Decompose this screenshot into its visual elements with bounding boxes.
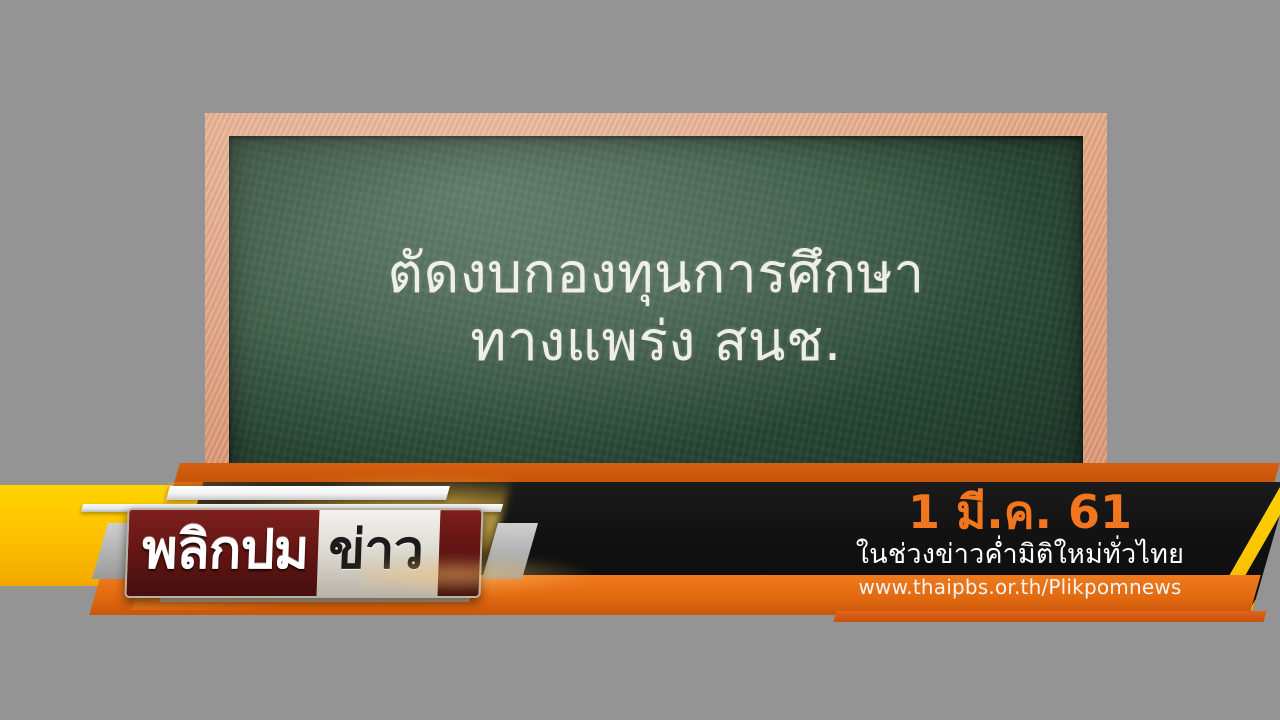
program-url[interactable]: www.thaipbs.or.th/Plikpomnews xyxy=(810,577,1230,597)
orange-underline-bar xyxy=(833,611,1266,622)
broadcast-graphic-stage: ตัดงบกองทุนการศึกษา ทางแพร่ง สนช. พลิกปม… xyxy=(0,0,1280,720)
program-logo-word-primary: พลิกปม xyxy=(126,510,319,596)
white-rule-thick xyxy=(166,486,450,500)
blackboard-surface: ตัดงบกองทุนการศึกษา ทางแพร่ง สนช. xyxy=(229,136,1083,490)
air-slot-subtitle: ในช่วงข่าวค่ำมิติใหม่ทั่วไทย xyxy=(810,541,1230,568)
blackboard-headline-line1: ตัดงบกองทุนการศึกษา xyxy=(229,244,1083,302)
lower-third-banner: พลิกปม ข่าว 1 มี.ค. 61 ในช่วงข่าวค่ำมิติ… xyxy=(0,455,1280,645)
blackboard-frame: ตัดงบกองทุนการศึกษา ทางแพร่ง สนช. xyxy=(205,113,1107,513)
air-date: 1 มี.ค. 61 xyxy=(810,489,1230,535)
program-logo[interactable]: พลิกปม ข่าว xyxy=(124,508,483,598)
blackboard-text-block: ตัดงบกองทุนการศึกษา ทางแพร่ง สนช. xyxy=(229,244,1083,371)
broadcast-info-block: 1 มี.ค. 61 ในช่วงข่าวค่ำมิติใหม่ทั่วไทย … xyxy=(810,489,1230,597)
blackboard-headline-line2: ทางแพร่ง สนช. xyxy=(229,312,1083,370)
program-logo-word-secondary: ข่าว xyxy=(317,510,441,596)
